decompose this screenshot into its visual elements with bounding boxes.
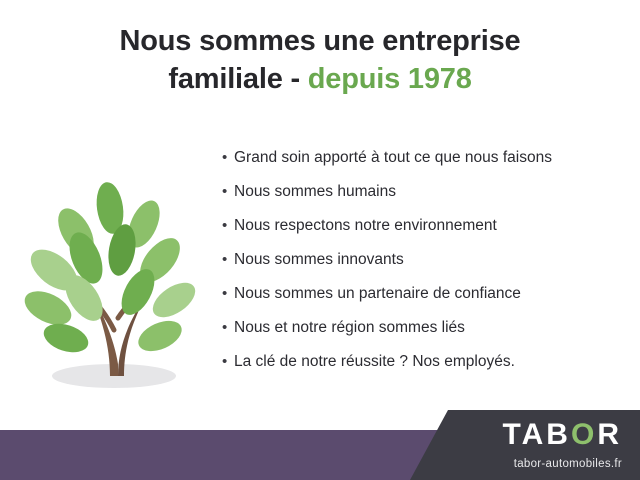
page-title: Nous sommes une entreprise familiale - d… [0, 24, 640, 96]
list-item: • Nous respectons notre environnement [222, 216, 622, 235]
list-item: • Nous et notre région sommes liés [222, 318, 622, 337]
list-item-label: La clé de notre réussite ? Nos employés. [234, 352, 515, 371]
list-item-label: Nous sommes humains [234, 182, 396, 201]
tree-icon [14, 150, 219, 400]
list-item-label: Grand soin apporté à tout ce que nous fa… [234, 148, 552, 167]
title-line-2: familiale - depuis 1978 [0, 62, 640, 96]
footer-band: TABOR tabor-automobiles.fr [0, 410, 640, 480]
title-line-1: Nous sommes une entreprise [0, 24, 640, 58]
bullet-marker-icon: • [222, 182, 234, 201]
list-item-label: Nous respectons notre environnement [234, 216, 497, 235]
bullet-marker-icon: • [222, 250, 234, 269]
list-item-label: Nous sommes innovants [234, 250, 404, 269]
slide-root: Nous sommes une entreprise familiale - d… [0, 0, 640, 480]
list-item-label: Nous et notre région sommes liés [234, 318, 465, 337]
brand-logo-part-1: TAB [503, 418, 571, 451]
bullet-marker-icon: • [222, 216, 234, 235]
title-accent-year: depuis 1978 [308, 63, 472, 95]
list-item: • Nous sommes humains [222, 182, 622, 201]
brand-logo-part-2: R [597, 418, 622, 451]
tree-illustration [14, 150, 219, 400]
list-item: • La clé de notre réussite ? Nos employé… [222, 352, 622, 371]
bullet-marker-icon: • [222, 352, 234, 371]
list-item-label: Nous sommes un partenaire de confiance [234, 284, 521, 303]
list-item: • Nous sommes un partenaire de confiance [222, 284, 622, 303]
title-line-2-prefix: familiale - [168, 63, 300, 95]
brand-logo-accent: O [571, 418, 597, 451]
list-item: • Grand soin apporté à tout ce que nous … [222, 148, 622, 167]
bullet-list: • Grand soin apporté à tout ce que nous … [222, 148, 622, 386]
brand-website: tabor-automobiles.fr [514, 459, 622, 471]
brand-logo: TABOR [503, 420, 622, 450]
list-item: • Nous sommes innovants [222, 250, 622, 269]
bullet-marker-icon: • [222, 318, 234, 337]
bullet-marker-icon: • [222, 148, 234, 167]
bullet-marker-icon: • [222, 284, 234, 303]
